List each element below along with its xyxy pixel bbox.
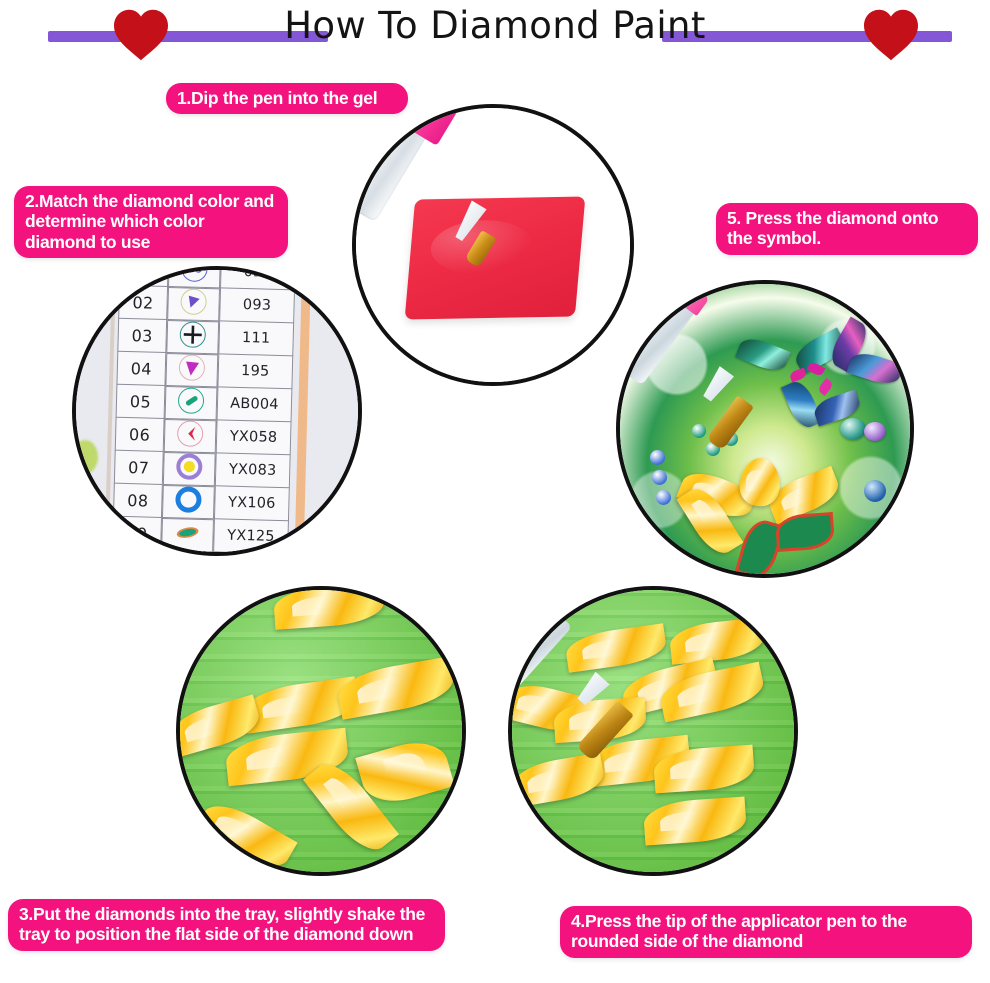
row-number: 03 xyxy=(118,318,167,352)
table-row: 06 YX058 xyxy=(115,417,291,455)
infographic-canvas: How To Diamond Paint 1.Dip the pen into … xyxy=(0,0,990,983)
row-code: 195 xyxy=(218,354,293,389)
row-number: 04 xyxy=(117,351,166,385)
table-row: 09 YX125 xyxy=(113,516,289,554)
gem xyxy=(656,490,671,505)
gel-pad xyxy=(405,197,586,320)
row-number: 02 xyxy=(119,285,168,319)
blur-spot xyxy=(72,440,98,474)
row-code: YX058 xyxy=(216,420,291,455)
photo-pen-on-diamond xyxy=(508,586,798,876)
gem xyxy=(692,424,706,438)
table-row: 07 YX083 xyxy=(114,450,290,488)
table-row: 03 111 xyxy=(118,318,294,356)
photo-color-chart: 01 028 02 xyxy=(72,266,362,556)
row-code: 028 xyxy=(220,266,295,290)
dot-circle-symbol-icon xyxy=(163,451,216,485)
gem xyxy=(840,418,866,440)
slash-oval-symbol-icon xyxy=(165,385,218,419)
row-number: 05 xyxy=(116,384,165,418)
leaf-symbol-icon xyxy=(161,517,214,551)
ring-symbol-icon xyxy=(162,484,215,518)
table-row: 02 093 xyxy=(119,285,295,323)
triangle-symbol-icon xyxy=(167,287,220,321)
row-number: 07 xyxy=(114,450,163,484)
double-eye-symbol-icon xyxy=(168,266,221,288)
row-number: 01 xyxy=(120,266,169,287)
row-code: 093 xyxy=(220,288,295,323)
row-number: 06 xyxy=(115,417,164,451)
row-code: 111 xyxy=(219,321,294,356)
page-title: How To Diamond Paint xyxy=(0,4,990,47)
step-3-label: 3.Put the diamonds into the tray, slight… xyxy=(8,899,445,951)
table-row: 04 195 xyxy=(117,351,293,389)
gem xyxy=(652,470,667,485)
step-5-label: 5. Press the diamond onto the symbol. xyxy=(716,203,978,255)
plus-symbol-icon xyxy=(166,320,219,354)
photo-pen-into-gel xyxy=(352,104,634,386)
table-row: 05 AB004 xyxy=(116,384,292,422)
row-code: YX125 xyxy=(214,519,289,554)
gem xyxy=(864,422,886,441)
left-arrow-symbol-icon xyxy=(164,418,217,452)
step-4-label: 4.Press the tip of the applicator pen to… xyxy=(560,906,972,958)
gem xyxy=(650,450,665,465)
row-code: YX083 xyxy=(215,453,290,488)
color-code-table: 01 028 02 xyxy=(112,266,296,554)
row-number: 09 xyxy=(113,516,162,550)
arrow-down-symbol-icon xyxy=(165,352,218,386)
photo-diamond-tray xyxy=(176,586,466,876)
blur-spot xyxy=(76,496,98,518)
photo-press-diamond xyxy=(616,280,914,578)
table-row: 08 YX106 xyxy=(114,483,290,521)
gem xyxy=(864,480,886,502)
row-code: AB004 xyxy=(217,387,292,422)
row-number: 08 xyxy=(114,483,163,517)
row-code: YX106 xyxy=(214,486,289,521)
step-2-label: 2.Match the diamond color and determine … xyxy=(14,186,288,258)
